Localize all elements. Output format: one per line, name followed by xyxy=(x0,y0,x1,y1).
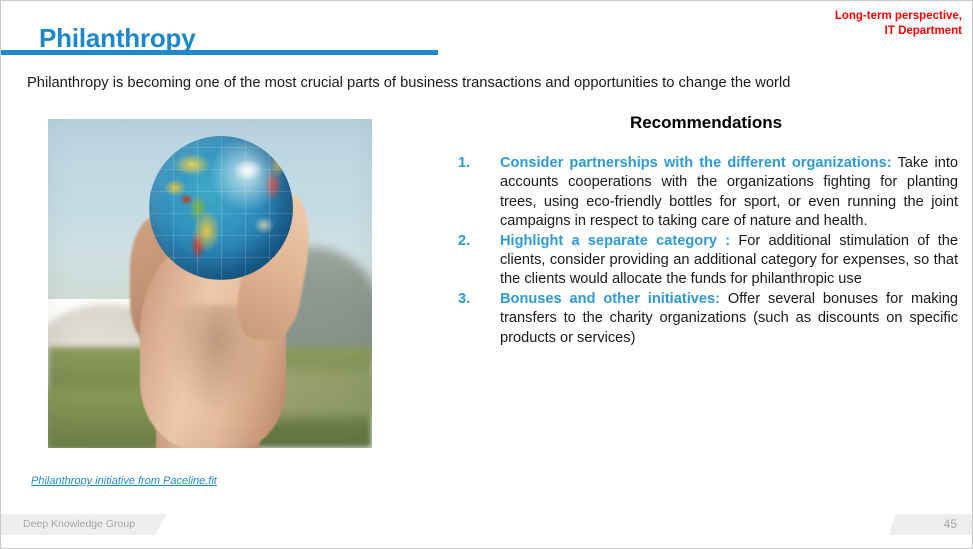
list-item: 3. Bonuses and other initiatives: Offer … xyxy=(458,290,958,348)
footer-brand-label: Deep Knowledge Group xyxy=(23,518,135,530)
list-item-lead: Highlight a separate category : xyxy=(500,233,730,249)
list-item-body: Bonuses and other initiatives: Offer sev… xyxy=(500,290,958,348)
header-note: Long-term perspective, IT Department xyxy=(835,9,962,39)
recommendations-heading: Recommendations xyxy=(456,113,956,133)
list-item-number: 1. xyxy=(458,154,500,173)
slide: Philanthropy Long-term perspective, IT D… xyxy=(0,0,973,549)
list-item: 2. Highlight a separate category : For a… xyxy=(458,232,958,290)
list-item-body: Highlight a separate category : For addi… xyxy=(500,232,958,290)
list-item-lead: Bonuses and other initiatives: xyxy=(500,291,720,307)
hand-holding-globe-photo xyxy=(48,119,372,448)
list-item-number: 2. xyxy=(458,232,500,251)
header-note-line2: IT Department xyxy=(835,24,962,39)
photo-vignette xyxy=(48,119,372,448)
list-item: 1. Consider partnerships with the differ… xyxy=(458,154,958,232)
slide-subtitle: Philanthropy is becoming one of the most… xyxy=(27,73,957,93)
list-item-lead: Consider partnerships with the different… xyxy=(500,155,892,171)
header-note-line1: Long-term perspective, xyxy=(835,9,962,24)
title-underline-rule xyxy=(1,50,438,55)
list-item-body: Consider partnerships with the different… xyxy=(500,154,958,232)
photo-caption-link[interactable]: Philanthropy initiative from Paceline.fi… xyxy=(31,475,217,487)
list-item-number: 3. xyxy=(458,290,500,309)
page-number-label: 45 xyxy=(889,517,957,531)
recommendations-list: 1. Consider partnerships with the differ… xyxy=(458,154,958,348)
